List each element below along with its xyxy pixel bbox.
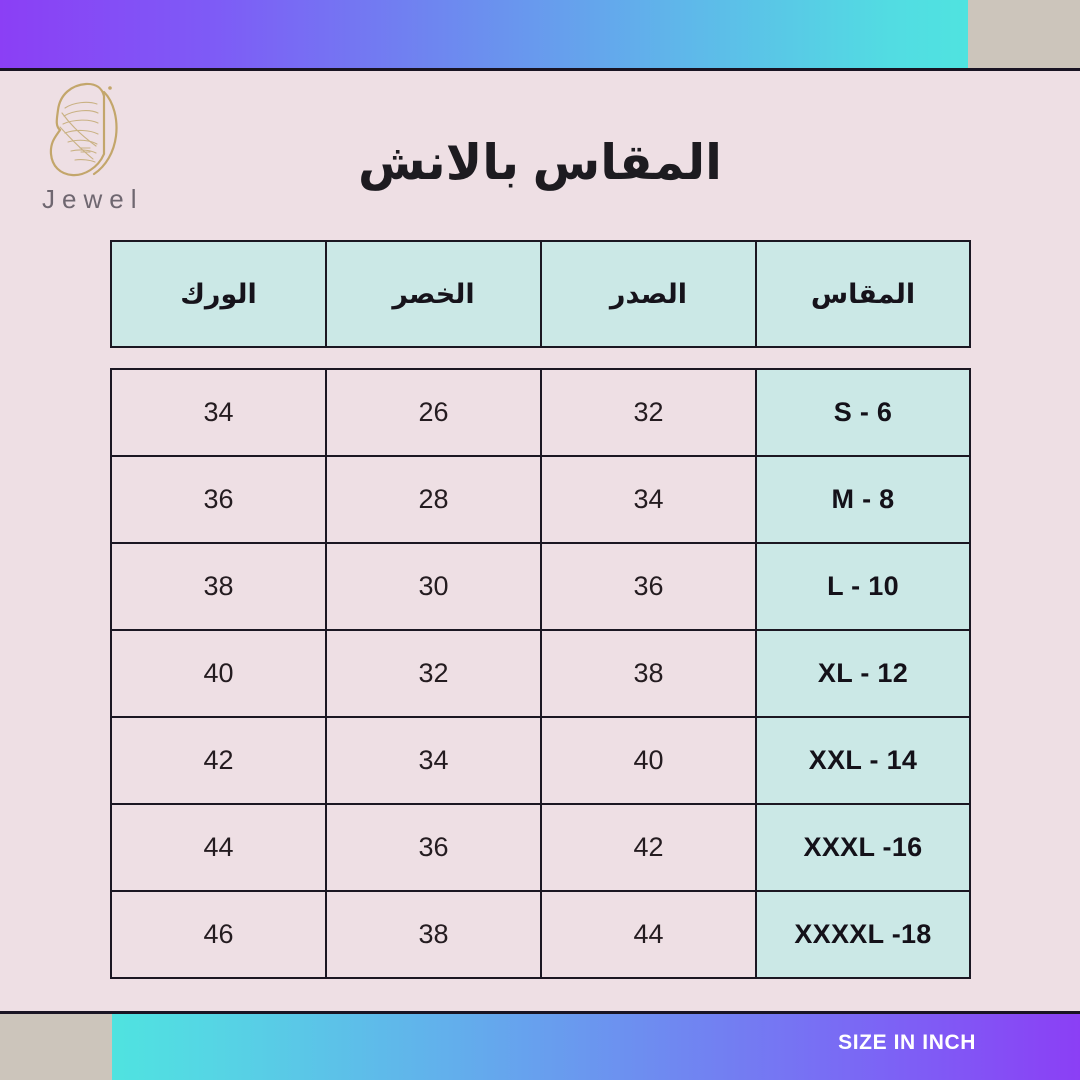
cell-chest: 34 <box>541 456 756 543</box>
cell-waist: 32 <box>326 630 541 717</box>
top-divider-rule <box>0 68 1080 71</box>
cell-hip: 46 <box>111 891 326 978</box>
cell-waist: 36 <box>326 804 541 891</box>
bottom-left-beige-panel <box>0 1013 112 1080</box>
cell-hip: 34 <box>111 369 326 456</box>
column-header-waist: الخصر <box>326 241 541 347</box>
page-title: المقاس بالانش <box>0 134 1080 191</box>
table-row: XXXL -16 42 36 44 <box>111 804 970 891</box>
cell-chest: 38 <box>541 630 756 717</box>
cell-size: S - 6 <box>756 369 970 456</box>
cell-size: XXXL -16 <box>756 804 970 891</box>
column-header-hip: الورك <box>111 241 326 347</box>
size-table-body: S - 6 32 26 34 M - 8 34 28 36 L - 10 36 … <box>110 368 971 979</box>
cell-hip: 42 <box>111 717 326 804</box>
cell-waist: 38 <box>326 891 541 978</box>
cell-waist: 26 <box>326 369 541 456</box>
cell-hip: 38 <box>111 543 326 630</box>
cell-hip: 44 <box>111 804 326 891</box>
column-header-chest: الصدر <box>541 241 756 347</box>
cell-chest: 36 <box>541 543 756 630</box>
cell-hip: 36 <box>111 456 326 543</box>
cell-size: XXXXL -18 <box>756 891 970 978</box>
cell-hip: 40 <box>111 630 326 717</box>
cell-chest: 42 <box>541 804 756 891</box>
cell-chest: 44 <box>541 891 756 978</box>
footer-label: SIZE IN INCH <box>838 1031 976 1055</box>
cell-waist: 34 <box>326 717 541 804</box>
table-row: XXXXL -18 44 38 46 <box>111 891 970 978</box>
table-header-row: المقاس الصدر الخصر الورك <box>111 241 970 347</box>
table-row: XL - 12 38 32 40 <box>111 630 970 717</box>
cell-size: XL - 12 <box>756 630 970 717</box>
cell-chest: 40 <box>541 717 756 804</box>
table-row: S - 6 32 26 34 <box>111 369 970 456</box>
top-gradient-bar <box>0 0 968 68</box>
cell-size: M - 8 <box>756 456 970 543</box>
cell-chest: 32 <box>541 369 756 456</box>
cell-waist: 30 <box>326 543 541 630</box>
size-chart-graphic: Jewel المقاس بالانش المقاس الصدر الخصر ا… <box>0 0 1080 1080</box>
table-row: XXL - 14 40 34 42 <box>111 717 970 804</box>
size-table-header: المقاس الصدر الخصر الورك <box>110 240 971 348</box>
cell-size: L - 10 <box>756 543 970 630</box>
table-row: L - 10 36 30 38 <box>111 543 970 630</box>
cell-size: XXL - 14 <box>756 717 970 804</box>
top-right-beige-panel <box>968 0 1080 70</box>
column-header-size: المقاس <box>756 241 970 347</box>
table-row: M - 8 34 28 36 <box>111 456 970 543</box>
cell-waist: 28 <box>326 456 541 543</box>
